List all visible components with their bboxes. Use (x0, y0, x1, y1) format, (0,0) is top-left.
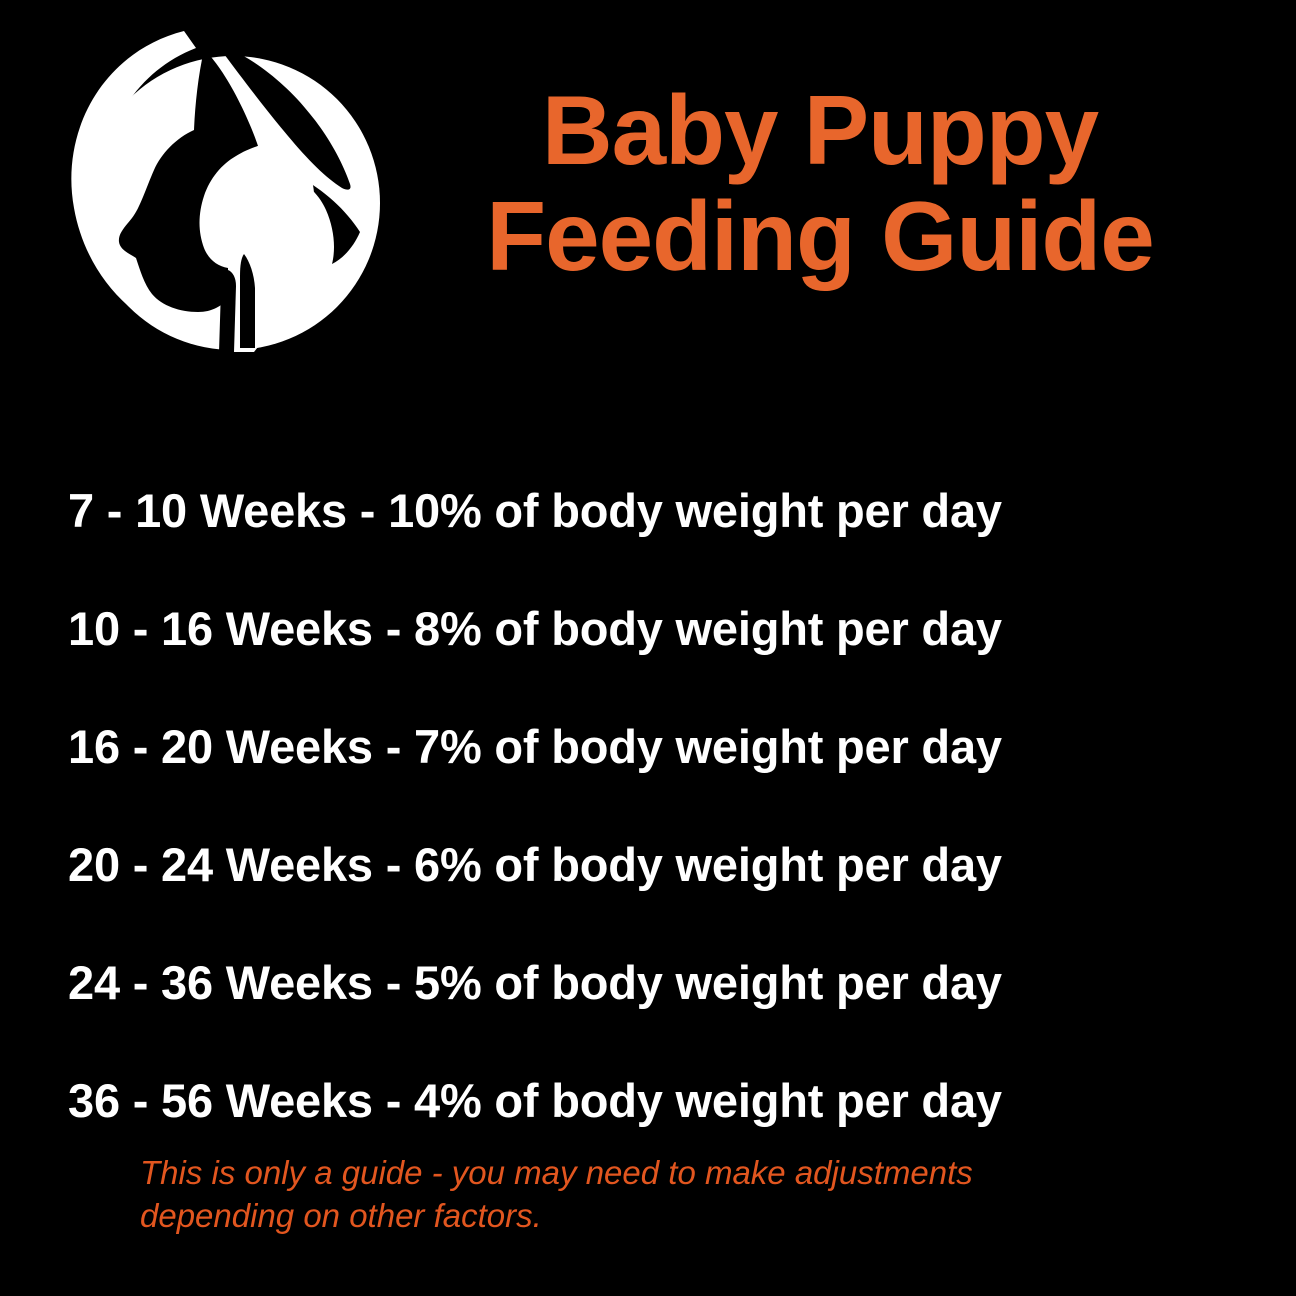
list-item: 16 - 20 Weeks - 7% of body weight per da… (0, 688, 1296, 806)
list-item: 7 - 10 Weeks - 10% of body weight per da… (0, 452, 1296, 570)
list-item: 36 - 56 Weeks - 4% of body weight per da… (0, 1042, 1296, 1160)
poster-header: Baby Puppy Feeding Guide (0, 0, 1296, 400)
list-item: 20 - 24 Weeks - 6% of body weight per da… (0, 806, 1296, 924)
feeding-row-text: 10 - 16 Weeks - 8% of body weight per da… (68, 604, 1002, 653)
disclaimer-note: This is only a guide - you may need to m… (140, 1152, 1200, 1238)
list-item: 10 - 16 Weeks - 8% of body weight per da… (0, 570, 1296, 688)
feeding-row-text: 24 - 36 Weeks - 5% of body weight per da… (68, 958, 1002, 1007)
page-title: Baby Puppy Feeding Guide (420, 78, 1220, 290)
title-line-2: Feeding Guide (420, 184, 1220, 290)
list-item: 24 - 36 Weeks - 5% of body weight per da… (0, 924, 1296, 1042)
disclaimer-line-1: This is only a guide - you may need to m… (140, 1152, 1200, 1195)
feeding-guide-poster: Baby Puppy Feeding Guide 7 - 10 Weeks - … (0, 0, 1296, 1296)
title-line-1: Baby Puppy (420, 78, 1220, 184)
feeding-schedule-list: 7 - 10 Weeks - 10% of body weight per da… (0, 452, 1296, 1160)
disclaimer-line-2: depending on other factors. (140, 1195, 1200, 1238)
feeding-row-text: 20 - 24 Weeks - 6% of body weight per da… (68, 840, 1002, 889)
feeding-row-text: 7 - 10 Weeks - 10% of body weight per da… (68, 486, 1002, 535)
feeding-row-text: 36 - 56 Weeks - 4% of body weight per da… (68, 1076, 1002, 1125)
feeding-row-text: 16 - 20 Weeks - 7% of body weight per da… (68, 722, 1002, 771)
dog-and-cat-logo-icon (58, 18, 398, 368)
